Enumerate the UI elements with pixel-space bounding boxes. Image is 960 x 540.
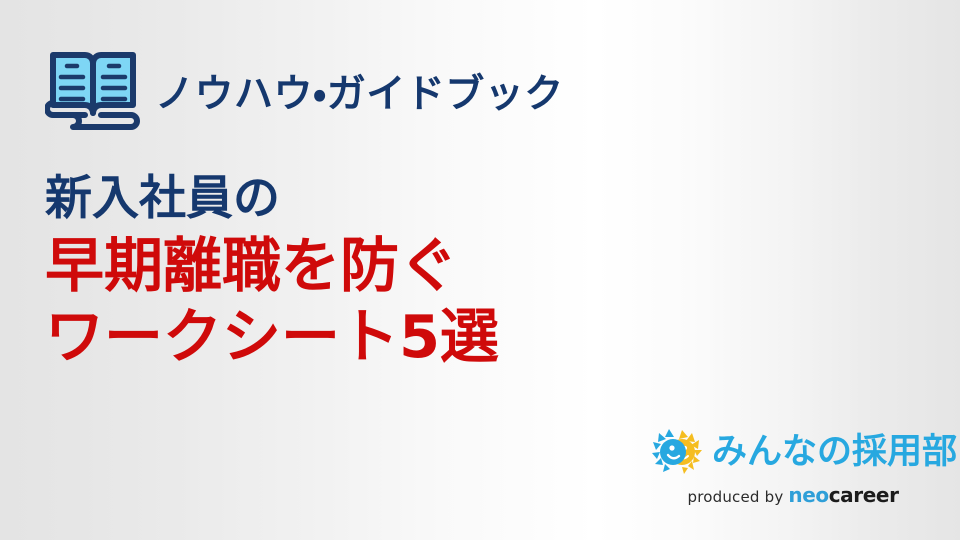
brand-logo: みんなの採用部 produced by neocareer	[652, 428, 900, 506]
tagline-brand-prefix: neo	[788, 483, 828, 507]
headline-line-1: 新入社員の	[45, 172, 499, 226]
open-book-icon	[45, 46, 141, 138]
brand-wordmark: みんなの採用部	[712, 435, 957, 470]
brand-logo-main: みんなの採用部	[652, 428, 900, 476]
guidebook-cover-slide: ノウハウ・ガイドブック 新入社員の 早期離職を防ぐ ワークシート5選	[0, 0, 960, 540]
page-title: 新入社員の 早期離職を防ぐ ワークシート5選	[45, 172, 499, 370]
brand-tagline: produced by neocareer	[652, 485, 900, 506]
category-badge-label: ノウハウ・ガイドブック	[155, 75, 564, 114]
tagline-brand-suffix: career	[829, 483, 899, 507]
headline-line-2: 早期離職を防ぐ	[45, 232, 499, 299]
headline-line-3: ワークシート5選	[45, 303, 499, 370]
sun-face-mark-icon	[652, 428, 704, 476]
tagline-produced-by: produced by	[687, 488, 783, 506]
category-badge: ノウハウ・ガイドブック	[45, 46, 564, 138]
